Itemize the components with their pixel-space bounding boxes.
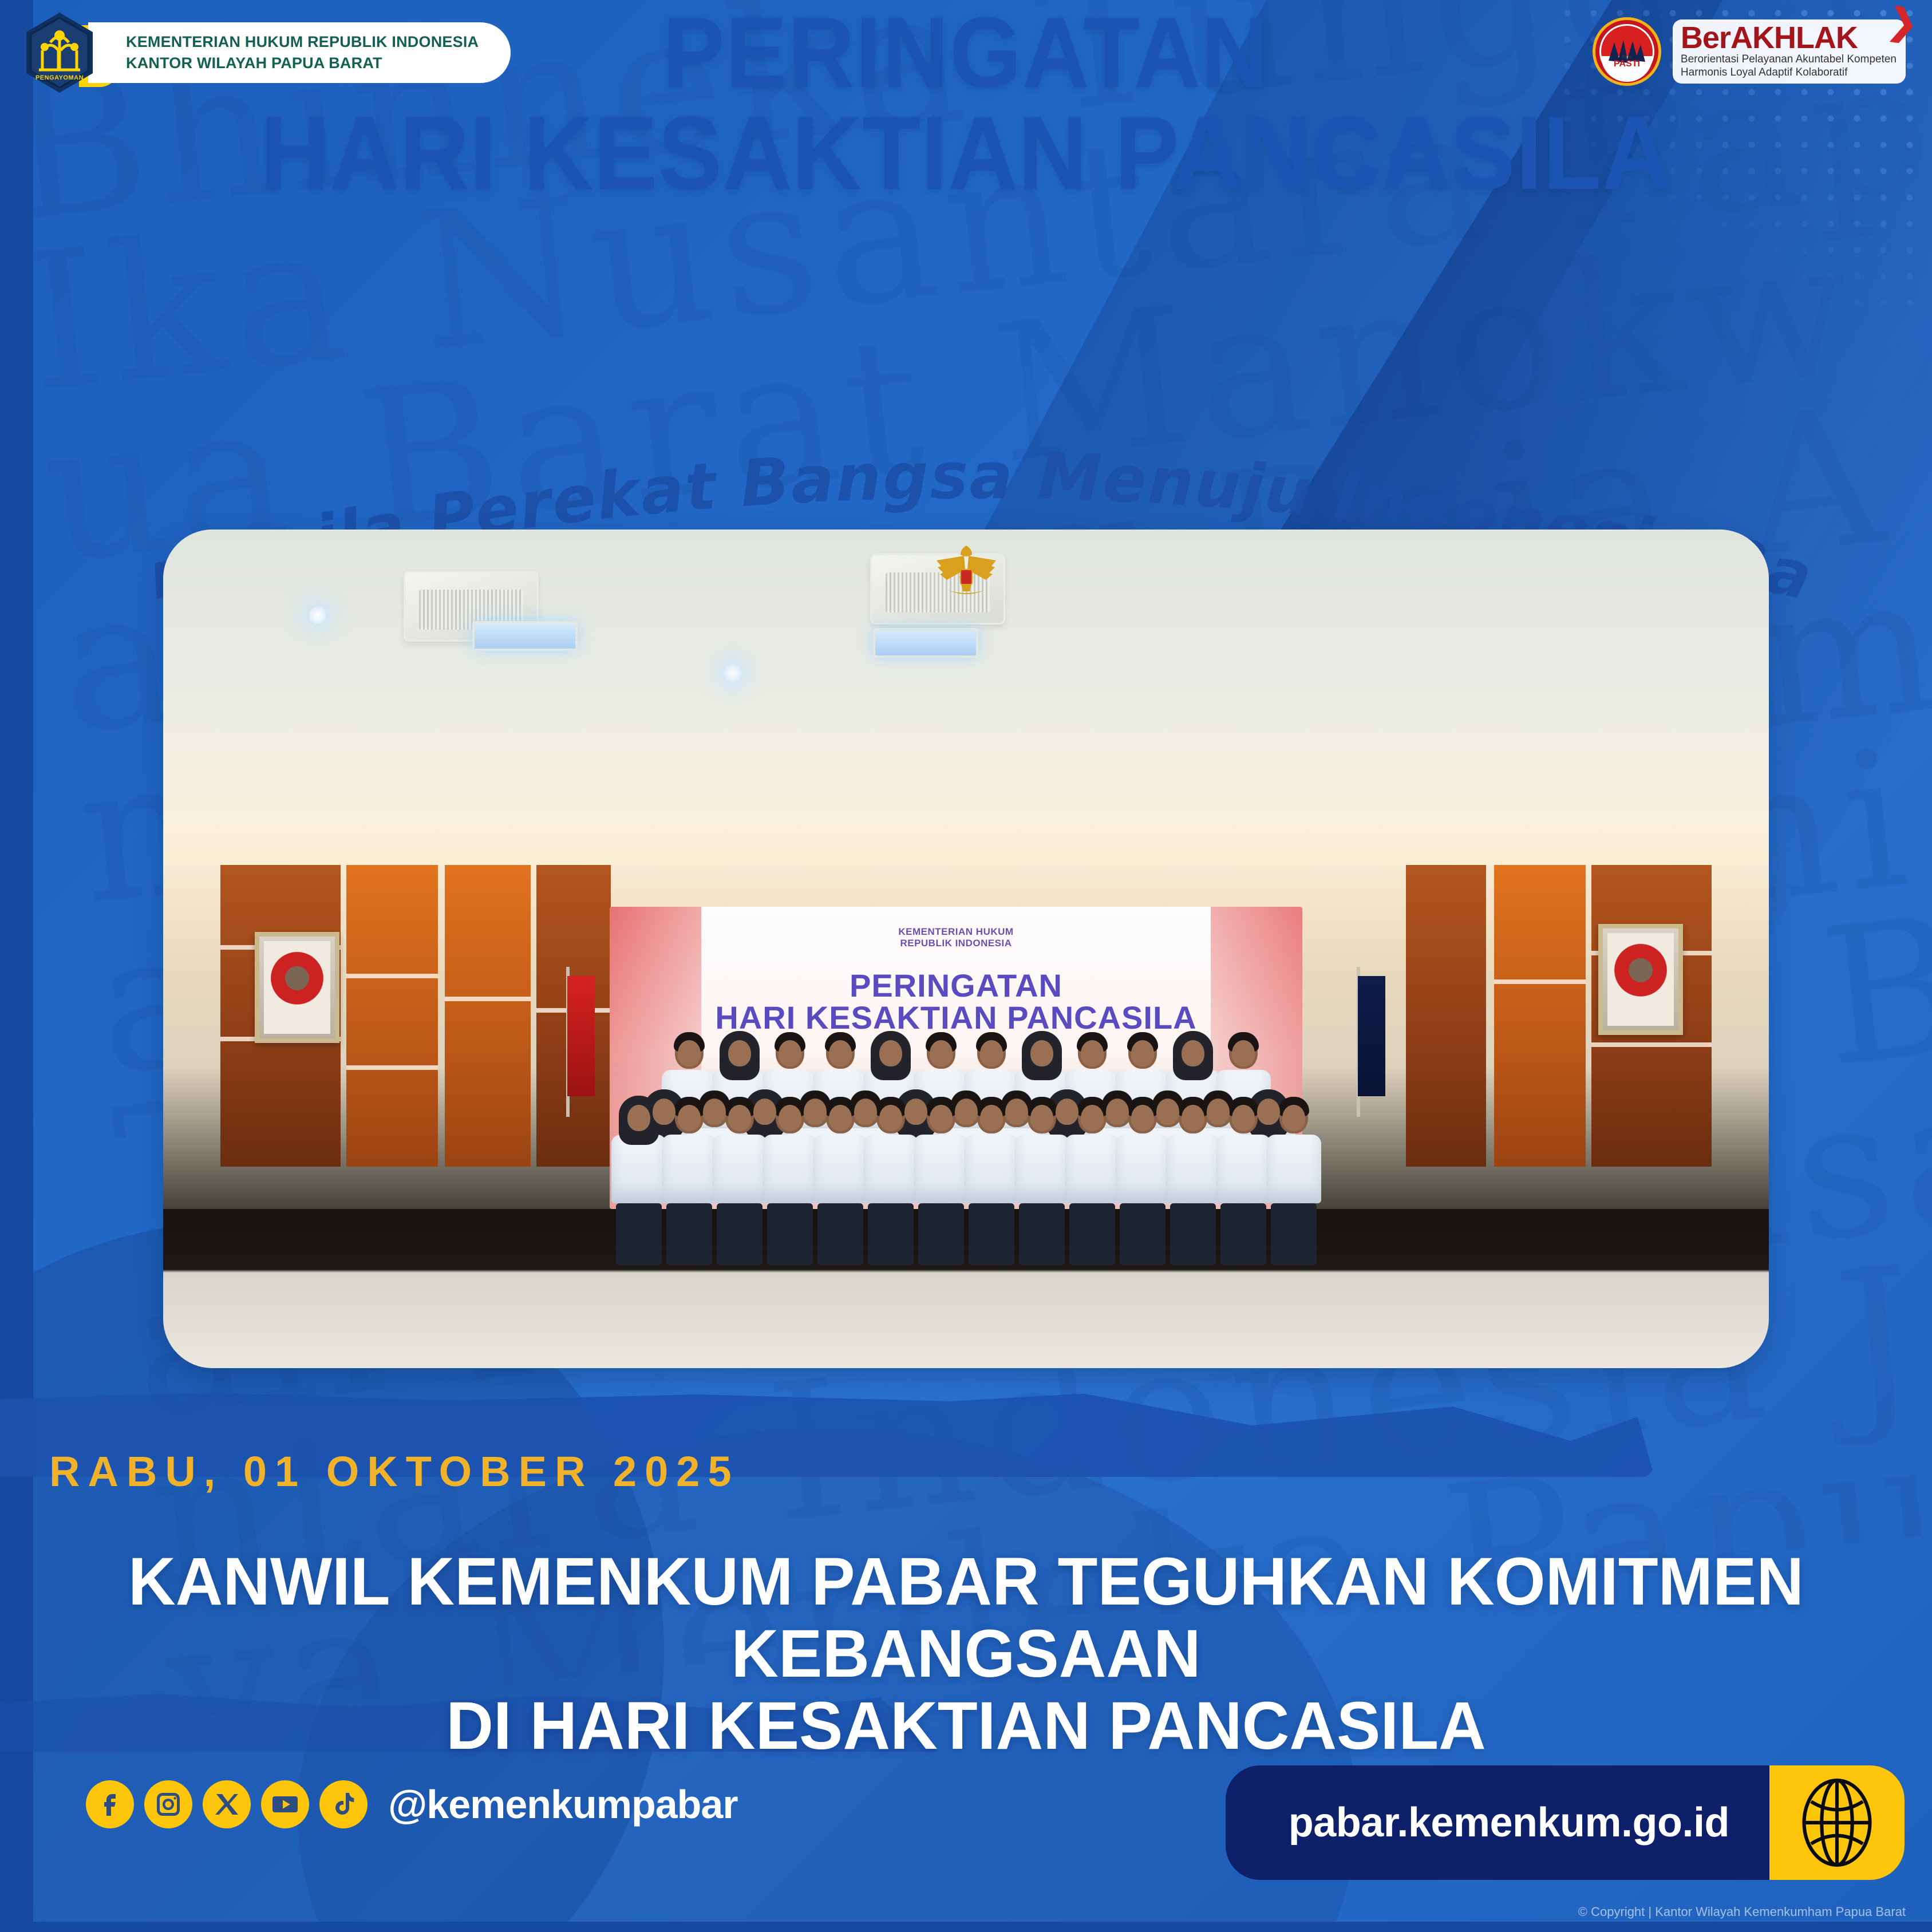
news-headline: KANWIL KEMENKUM PABAR TEGUHKAN KOMITMEN …	[29, 1546, 1903, 1762]
ceiling-lamp	[873, 628, 978, 658]
instagram-icon[interactable]	[144, 1780, 192, 1828]
youtube-icon[interactable]	[261, 1780, 309, 1828]
top-right-logos: PASTI Kami BerAKHLAK ❯ Berorientasi Pela…	[1591, 16, 1906, 87]
garuda-pancasila-emblem	[931, 541, 1002, 600]
website-url: pabar.kemenkum.go.id	[1226, 1765, 1769, 1880]
downlight	[724, 665, 741, 682]
social-media-bar: @kemenkumpabar	[86, 1780, 738, 1828]
people-row-front	[163, 1100, 1769, 1265]
ceiling-lamp	[472, 621, 578, 651]
badge-text-block: KEMENTERIAN HUKUM REPUBLIK INDONESIA KAN…	[88, 22, 511, 83]
background-left-strip	[0, 0, 33, 1932]
facebook-icon[interactable]	[86, 1780, 134, 1828]
headline-line2: DI HARI KESAKTIAN PANCASILA	[29, 1690, 1903, 1762]
bottom-bar	[0, 1922, 1932, 1932]
website-badge[interactable]: pabar.kemenkum.go.id	[1226, 1765, 1905, 1880]
ministry-name: KEMENTERIAN HUKUM REPUBLIK INDONESIA	[126, 33, 479, 51]
social-handle: @kemenkumpabar	[388, 1781, 738, 1827]
globe-icon	[1769, 1765, 1905, 1880]
svg-text:Kami: Kami	[1622, 55, 1631, 59]
ministry-badge: PENGAYOMAN KEMENTERIAN HUKUM REPUBLIK IN…	[22, 15, 511, 90]
pengayoman-logo: PENGAYOMAN	[22, 10, 97, 95]
pasti-seal-icon: PASTI Kami	[1591, 16, 1662, 87]
x-twitter-icon[interactable]	[203, 1780, 251, 1828]
svg-text:PASTI: PASTI	[1614, 59, 1640, 69]
berakhlak-values-line2: Harmonis Loyal Adaptif Kolaboratif	[1681, 66, 1897, 79]
copyright-text: © Copyright | Kantor Wilayah Kemenkumham…	[1578, 1905, 1906, 1919]
tiktok-icon[interactable]	[319, 1780, 368, 1828]
event-photo: KEMENTERIAN HUKUM REPUBLIK INDONESIA PER…	[163, 530, 1769, 1368]
event-date: RABU, 01 OKTOBER 2025	[49, 1447, 740, 1496]
berakhlak-text: BerAKHLAK	[1681, 21, 1858, 55]
headline-line1: KANWIL KEMENKUM PABAR TEGUHKAN KOMITMEN …	[29, 1546, 1903, 1690]
pengayoman-hexagon-icon	[22, 10, 97, 95]
chevron-right-icon: ❯	[1886, 6, 1919, 40]
pengayoman-caption: PENGAYOMAN	[22, 74, 97, 81]
poster-canvas: Bhinneka Tunggal Ika Nusantara Papua Bar…	[0, 0, 1932, 1932]
berakhlak-logo: BerAKHLAK ❯ Berorientasi Pelayanan Akunt…	[1673, 19, 1906, 84]
berakhlak-wordmark: BerAKHLAK ❯	[1681, 23, 1897, 53]
downlight	[309, 607, 326, 624]
regional-office-name: KANTOR WILAYAH PAPUA BARAT	[126, 54, 479, 72]
group-photo-people	[163, 798, 1769, 1285]
